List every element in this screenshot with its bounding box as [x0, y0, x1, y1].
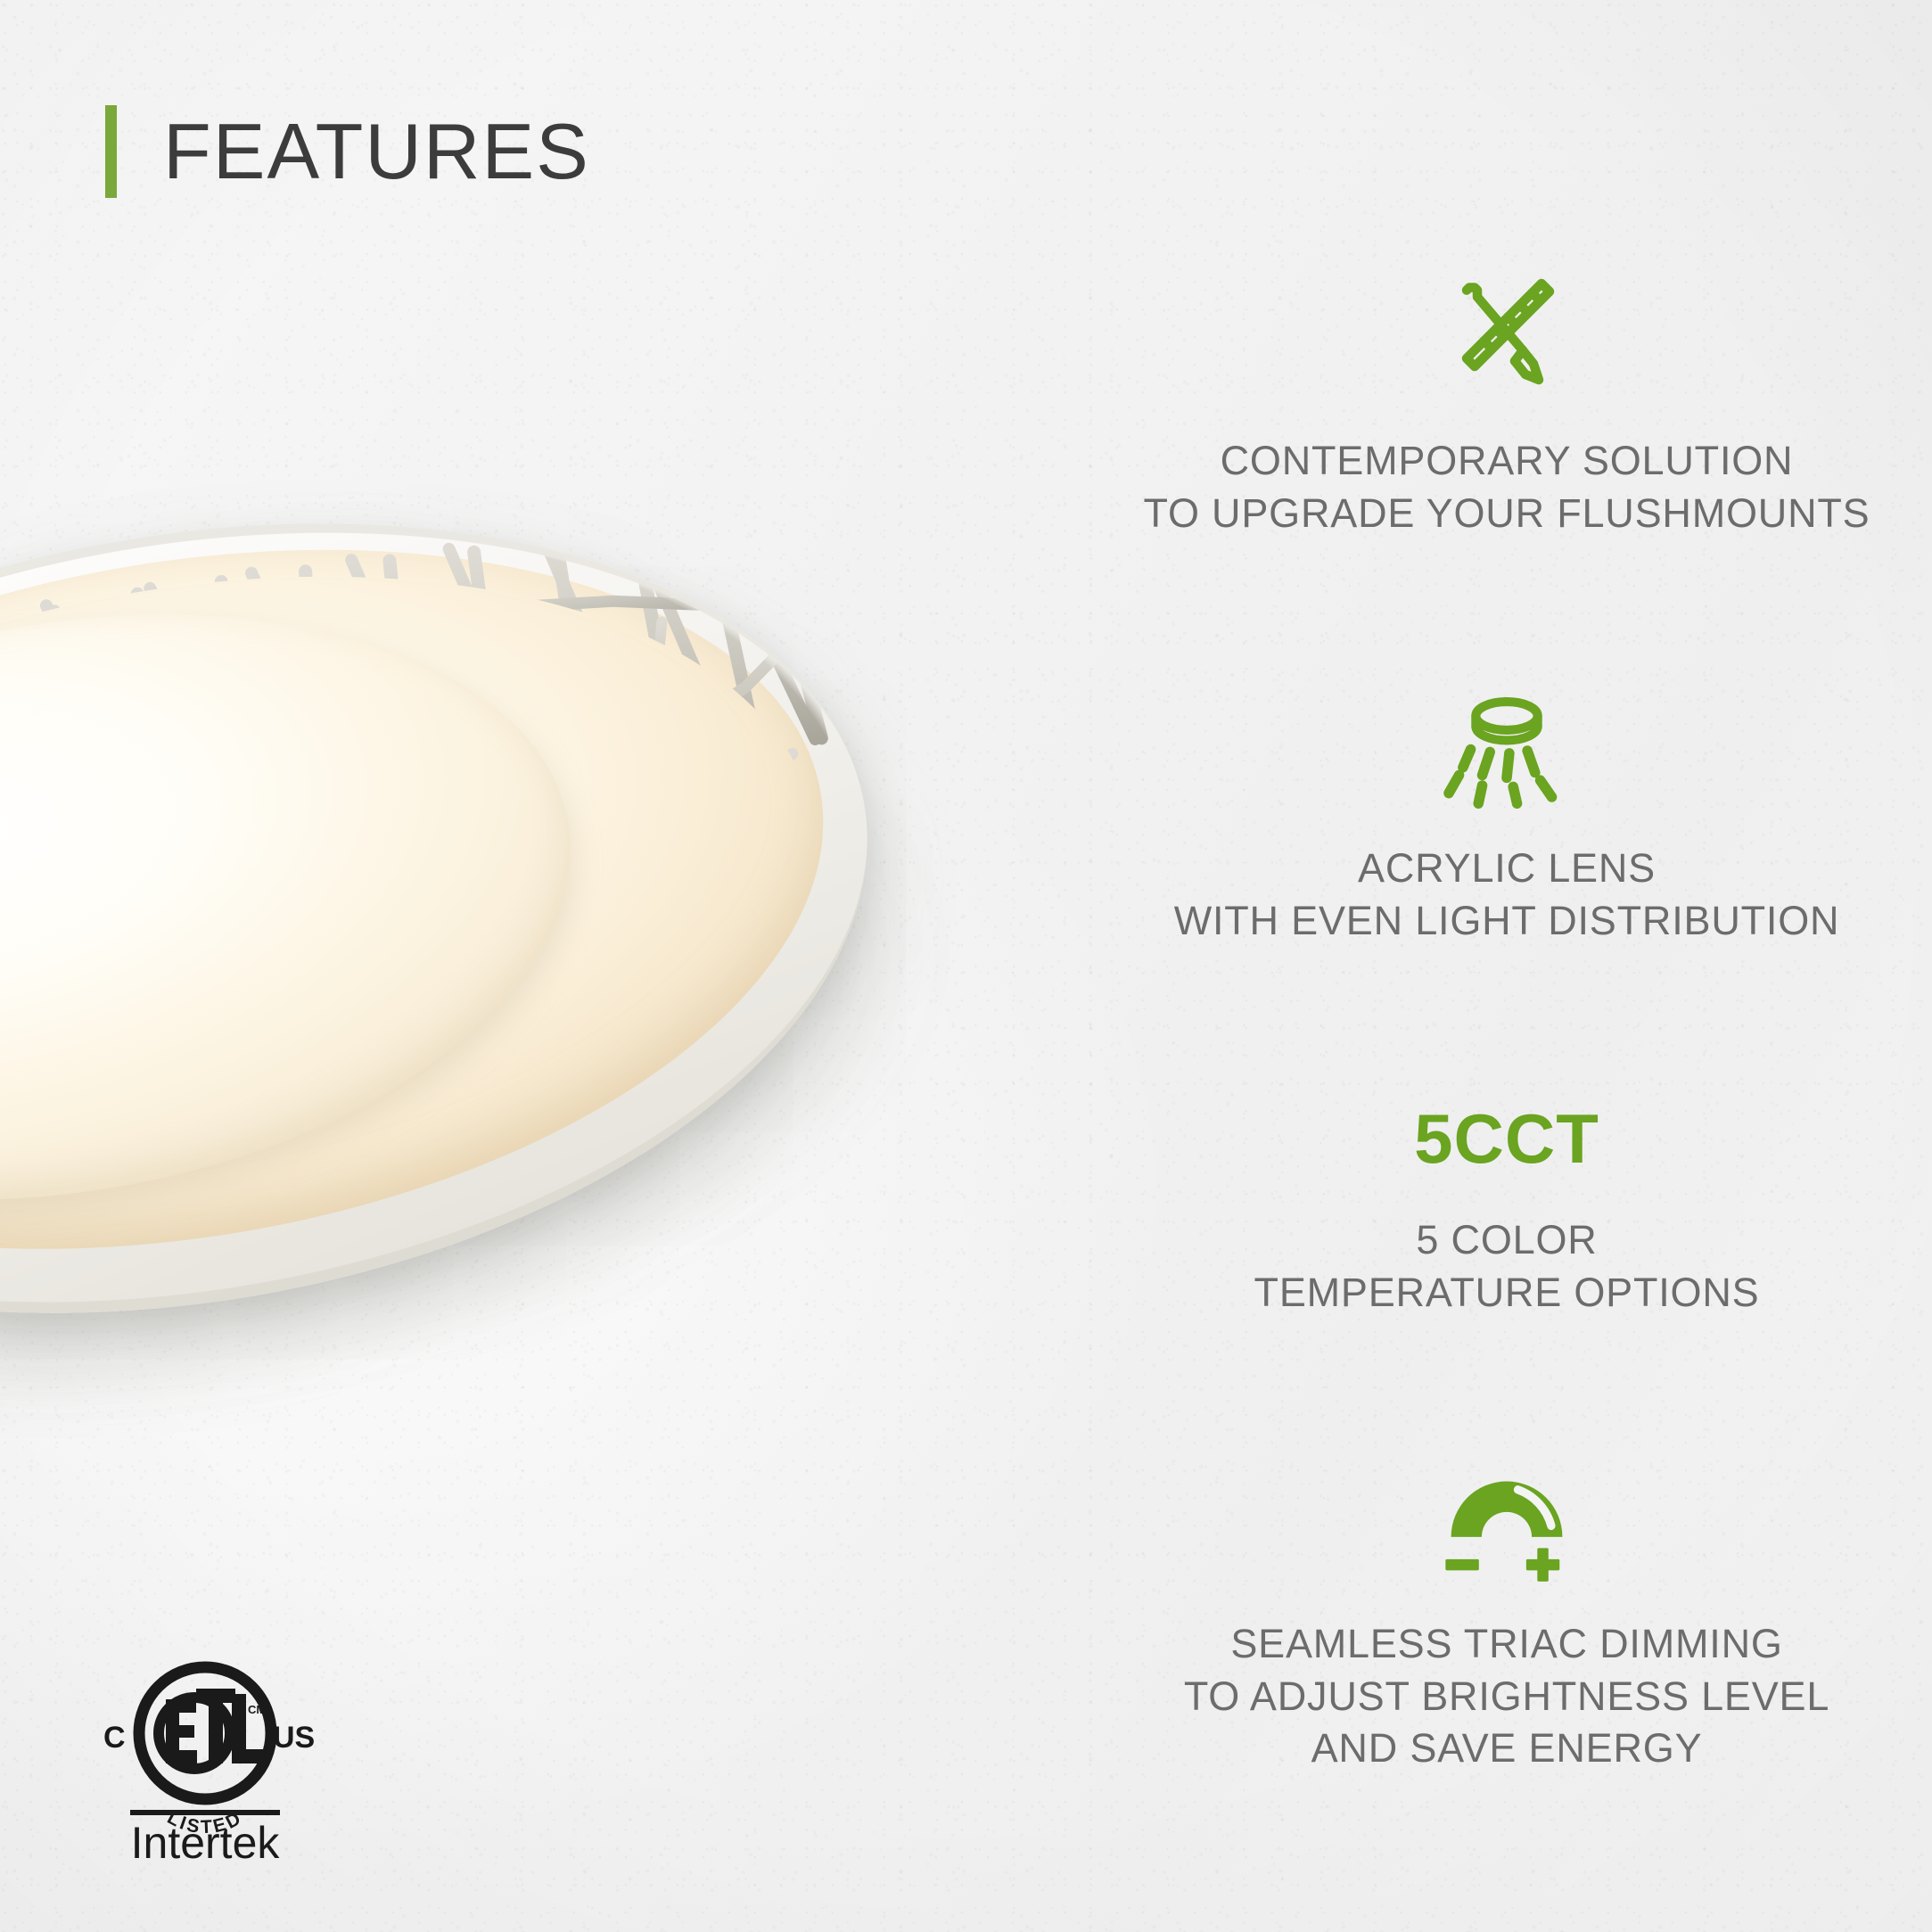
- feature-item-acrylic-lens: ACRYLIC LENS WITH EVEN LIGHT DISTRIBUTIO…: [1056, 693, 1932, 947]
- page-header: FEATURES: [105, 105, 590, 198]
- etl-left-mark: C: [103, 1721, 126, 1755]
- feature-line: TEMPERATURE OPTIONS: [1254, 1267, 1760, 1320]
- feature-line: WITH EVEN LIGHT DISTRIBUTION: [1174, 895, 1840, 948]
- feature-line: SEAMLESS TRIAC DIMMING: [1184, 1618, 1829, 1671]
- feature-line: TO UPGRADE YOUR FLUSHMOUNTS: [1143, 488, 1870, 540]
- etl-divider: [130, 1810, 280, 1815]
- feature-line: AND SAVE ENERGY: [1184, 1722, 1829, 1775]
- feature-description: CONTEMPORARY SOLUTION TO UPGRADE YOUR FL…: [1143, 435, 1870, 539]
- page-title: FEATURES: [163, 112, 590, 191]
- feature-line: 5 COLOR: [1254, 1214, 1760, 1267]
- feature-slide: FEATURES: [0, 0, 1932, 1932]
- etl-right-mark: US: [273, 1721, 315, 1755]
- ruler-pen-icon: [1440, 267, 1574, 401]
- feature-description: 5 COLOR TEMPERATURE OPTIONS: [1254, 1214, 1760, 1319]
- feature-item-5cct: 5CCT 5 COLOR TEMPERATURE OPTIONS: [1056, 1104, 1932, 1319]
- etl-company-name: Intertek: [131, 1818, 281, 1868]
- features-list: CONTEMPORARY SOLUTION TO UPGRADE YOUR FL…: [1056, 267, 1932, 1775]
- feature-line: ACRYLIC LENS: [1174, 843, 1840, 895]
- dimmer-knob-icon: [1437, 1470, 1576, 1584]
- feature-heading-5cct: 5CCT: [1414, 1104, 1599, 1173]
- feature-description: SEAMLESS TRIAC DIMMING TO ADJUST BRIGHTN…: [1184, 1618, 1829, 1775]
- feature-line: CONTEMPORARY SOLUTION: [1143, 435, 1870, 488]
- feature-item-triac-dimming: SEAMLESS TRIAC DIMMING TO ADJUST BRIGHTN…: [1056, 1470, 1932, 1775]
- ceiling-light-rays-icon: [1442, 693, 1572, 809]
- feature-description: ACRYLIC LENS WITH EVEN LIGHT DISTRIBUTIO…: [1174, 843, 1840, 947]
- feature-line: TO ADJUST BRIGHTNESS LEVEL: [1184, 1671, 1829, 1723]
- etl-superscript: CM: [248, 1703, 266, 1716]
- feature-item-contemporary-solution: CONTEMPORARY SOLUTION TO UPGRADE YOUR FL…: [1056, 267, 1932, 539]
- header-accent-bar: [105, 105, 117, 198]
- etl-certification-badge: CM LISTED C US Intertek: [89, 1630, 321, 1869]
